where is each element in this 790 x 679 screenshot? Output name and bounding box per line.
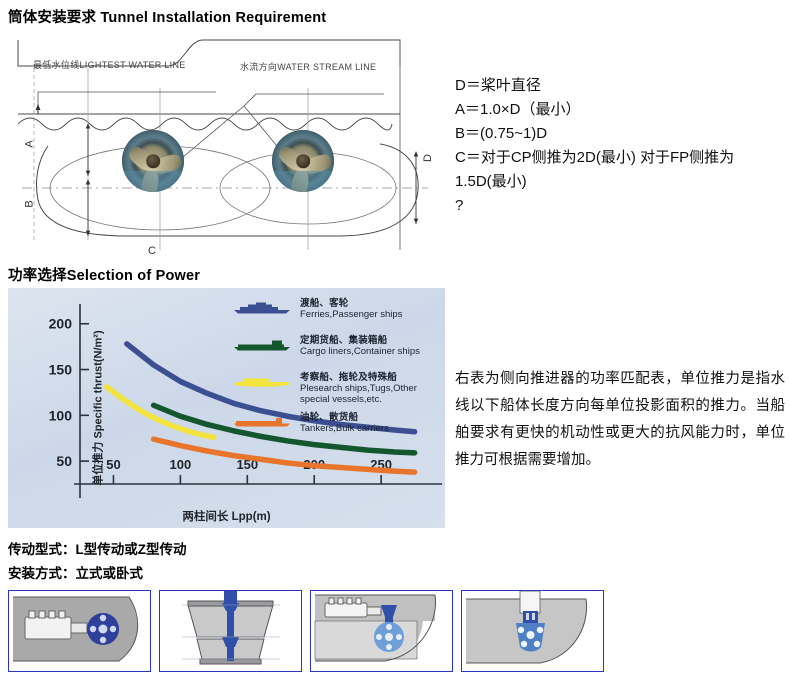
svg-text:200: 200	[49, 316, 73, 332]
thruster-propeller-photo-left	[122, 130, 184, 192]
svg-text:50: 50	[56, 453, 72, 469]
legend-label-en: Cargo liners,Container ships	[300, 346, 437, 357]
thumb-vertical-z-drive-section[interactable]	[159, 590, 302, 672]
water-stream-line-label: 水流方向WATER STREAM LINE	[240, 60, 376, 73]
dimension-formula-block: D＝桨叶直径 A＝1.0×D（最小） B＝(0.75~1)D C＝对于CP侧推为…	[455, 74, 780, 218]
chart-y-axis-label: 单位推力 Specific thrust(N/m²)	[90, 330, 106, 485]
thruster-propeller-photo-right	[272, 130, 334, 192]
legend-label-en: Ferries,Passenger ships	[300, 309, 437, 320]
legend-item-tankers: 油轮、散货船 Tankers,Bulk carriers	[232, 412, 437, 442]
dimension-a-label: A	[24, 140, 36, 147]
formula-line-extra: ?	[455, 194, 780, 218]
legend-label-cn: 定期货船、集装箱船	[300, 335, 437, 346]
svg-text:150: 150	[49, 362, 73, 378]
ferry-ship-icon	[232, 301, 292, 314]
legend-item-research: 考察船、拖轮及特殊船 Plesearch ships,Tugs,Other sp…	[232, 372, 437, 405]
svg-text:100: 100	[49, 407, 73, 423]
svg-text:100: 100	[170, 457, 192, 472]
legend-item-cargo: 定期货船、集装箱船 Cargo liners,Container ships	[232, 335, 437, 365]
dimension-c-label: C	[148, 245, 156, 257]
chart-explanation-text: 右表为侧向推进器的功率匹配表，单位推力是指水线以下船体长度方向每单位投影面积的推…	[455, 366, 785, 474]
formula-line-b: B＝(0.75~1)D	[455, 122, 780, 146]
thumb-horizontal-engine-transverse-thruster[interactable]	[8, 590, 151, 672]
chart-x-axis-label: 两柱间长 Lpp(m)	[8, 508, 445, 524]
formula-line-d: D＝桨叶直径	[455, 74, 780, 98]
legend-label-cn: 油轮、散货船	[300, 412, 437, 423]
install-type-line: 安装方式：立式或卧式	[8, 562, 143, 582]
thumb-horizontal-engine-z-drive[interactable]	[310, 590, 453, 672]
installation-thumbnail-row	[8, 590, 604, 672]
legend-item-ferries: 渡船、客轮 Ferries,Passenger ships	[232, 298, 437, 328]
cargo-ship-icon	[232, 338, 292, 351]
research-ship-icon	[232, 375, 292, 388]
legend-label-cn: 渡船、客轮	[300, 298, 437, 309]
legend-label-en: Plesearch ships,Tugs,Other special vesse…	[300, 383, 437, 405]
legend-label-cn: 考察船、拖轮及特殊船	[300, 372, 437, 383]
legend-label-en: Tankers,Bulk carriers	[300, 423, 437, 434]
svg-text:50: 50	[106, 457, 120, 472]
thumb-vertical-retractable-thruster[interactable]	[461, 590, 604, 672]
selection-of-power-heading: 功率选择Selection of Power	[8, 264, 200, 285]
lightest-water-line-label: 最低水位线LIGHTEST WATER LINE	[33, 58, 186, 71]
formula-line-c: C＝对于CP侧推为2D(最小) 对于FP侧推为1.5D(最小)	[455, 146, 780, 194]
dimension-b-label: B	[24, 200, 36, 207]
tunnel-installation-heading: 筒体安装要求 Tunnel Installation Requirement	[8, 6, 326, 27]
chart-legend: 渡船、客轮 Ferries,Passenger ships 定期货船、集装箱船 …	[232, 298, 437, 449]
dimension-d-label: D	[422, 154, 434, 162]
drive-type-line: 传动型式：L型传动或Z型传动	[8, 538, 187, 558]
document-page: 筒体安装要求 Tunnel Installation Requirement	[0, 0, 790, 679]
tanker-ship-icon	[232, 415, 292, 428]
formula-line-a: A＝1.0×D（最小）	[455, 98, 780, 122]
